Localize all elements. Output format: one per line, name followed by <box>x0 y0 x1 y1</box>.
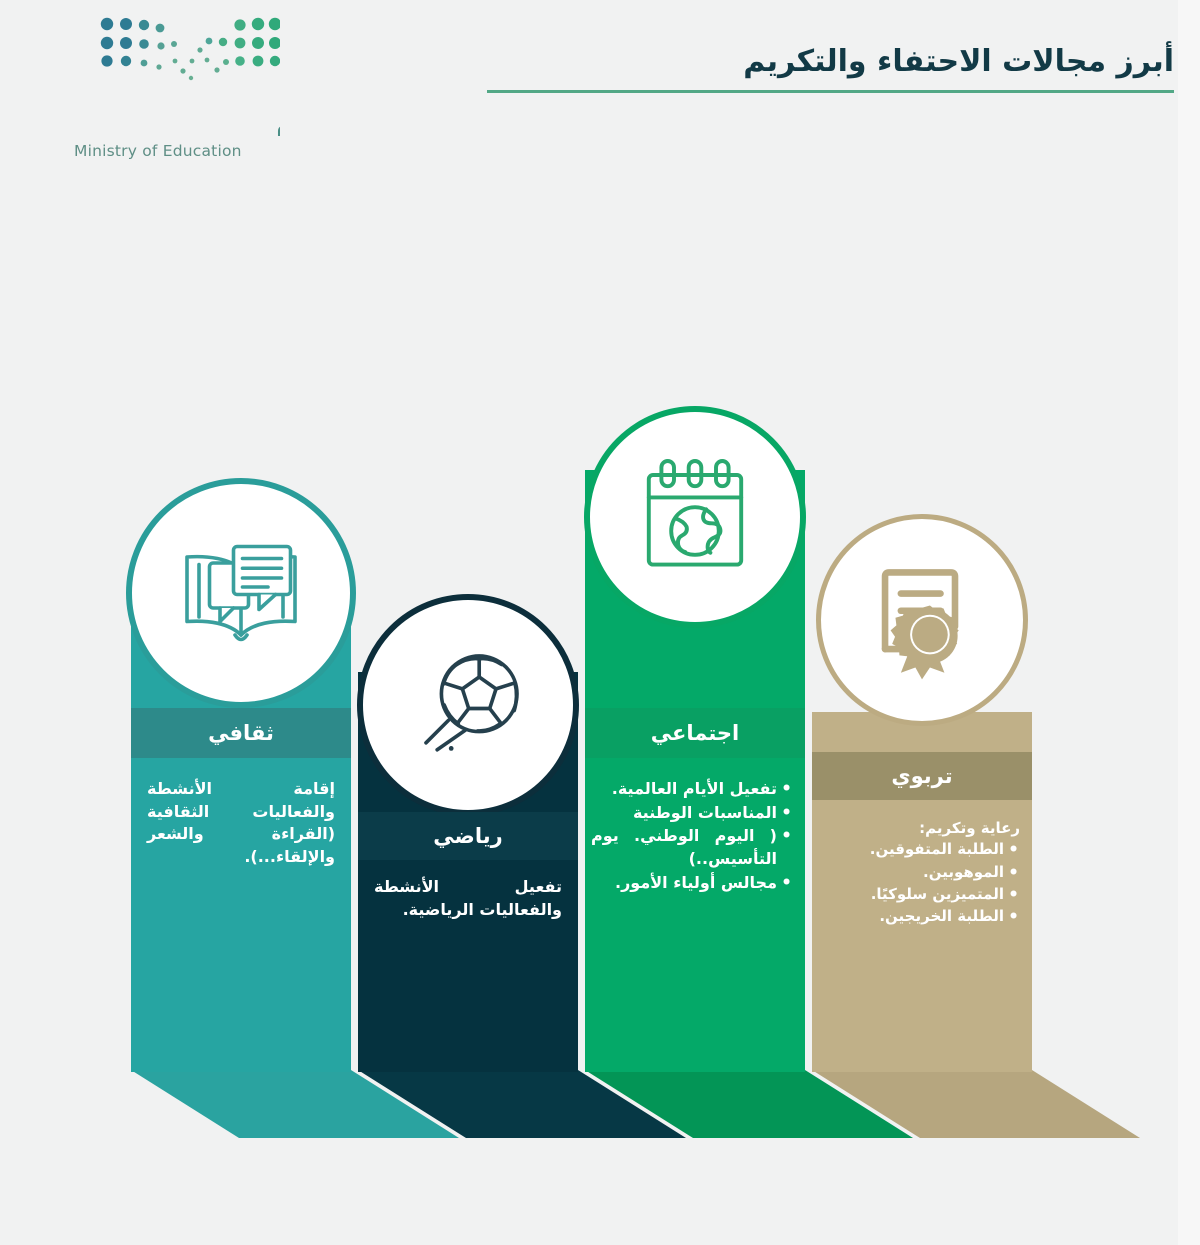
column-educational-badge <box>816 514 1028 726</box>
column-cultural-label: ثقافي <box>131 708 351 758</box>
column-social-badge <box>584 406 806 628</box>
column-educational-bullet-list: الطلبة المتفوقين. الموهوبين. المتميزين س… <box>818 839 1020 927</box>
list-item: الطلبة الخريجين. <box>818 906 1004 927</box>
column-cultural[interactable]: ثقافي إقامة الأنشطة والفعاليات الثقافية … <box>131 560 351 1072</box>
column-social-bullet-list: تفعيل الأيام العالمية. المناسبات الوطنية… <box>591 778 793 895</box>
list-item: المناسبات الوطنية <box>591 802 777 825</box>
columns-container: ثقافي إقامة الأنشطة والفعاليات الثقافية … <box>0 0 1200 1245</box>
column-sports-badge <box>357 594 579 816</box>
column-social-body: تفعيل الأيام العالمية. المناسبات الوطنية… <box>585 778 805 896</box>
column-sports-paragraph: تفعيل الأنشطة والفعاليات الرياضية. <box>374 876 562 921</box>
list-item: الطلبة المتفوقين. <box>818 839 1004 860</box>
calendar-globe-icon <box>625 447 765 587</box>
column-cultural-paragraph: إقامة الأنشطة والفعاليات الثقافية (القرا… <box>147 778 335 869</box>
column-cultural-label-text: ثقافي <box>208 721 274 745</box>
book-chat-icon <box>166 518 316 668</box>
column-cultural-badge <box>126 478 356 708</box>
column-sports-label-text: رياضي <box>433 824 502 848</box>
list-item: تفعيل الأيام العالمية. <box>591 778 777 801</box>
column-educational-body: رعاية وتكريم: الطلبة المتفوقين. الموهوبي… <box>812 818 1032 928</box>
column-educational-subhead: رعاية وتكريم: <box>818 818 1020 839</box>
column-social-label-text: اجتماعي <box>651 721 739 745</box>
column-sports-body: تفعيل الأنشطة والفعاليات الرياضية. <box>358 876 578 921</box>
list-item: مجالس أولياء الأمور. <box>591 872 777 895</box>
column-sports-label: رياضي <box>358 812 578 860</box>
column-educational-label-text: تربوي <box>891 764 952 788</box>
list-item: الموهوبين. <box>818 862 1004 883</box>
column-educational[interactable]: تربوي رعاية وتكريم: الطلبة المتفوقين. ال… <box>812 712 1032 1072</box>
soccer-ball-icon <box>398 635 538 775</box>
column-educational-label: تربوي <box>812 752 1032 800</box>
certificate-award-icon <box>856 554 988 686</box>
list-item: المتميزين سلوكيًا. <box>818 884 1004 905</box>
column-sports[interactable]: رياضي تفعيل الأنشطة والفعاليات الرياضية. <box>358 672 578 1072</box>
infographic-page: وزارة التـعـلـيم Ministry of Education أ… <box>0 0 1200 1245</box>
column-social[interactable]: اجتماعي تفعيل الأيام العالمية. المناسبات… <box>585 470 805 1072</box>
list-item: ( اليوم الوطني. يوم التأسيس..) <box>591 825 777 870</box>
column-cultural-body: إقامة الأنشطة والفعاليات الثقافية (القرا… <box>131 778 351 869</box>
column-social-label: اجتماعي <box>585 708 805 758</box>
